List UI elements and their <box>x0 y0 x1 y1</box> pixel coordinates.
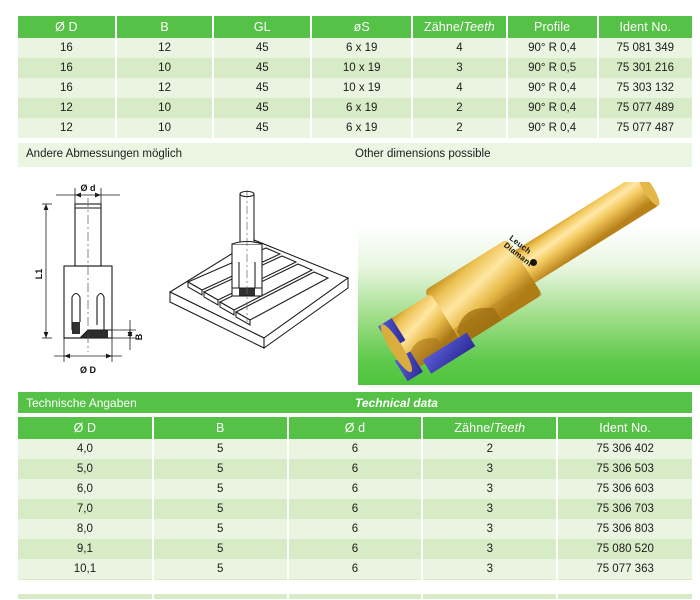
col-header-b: B <box>116 16 214 38</box>
line-drawing-svg: Ø d L1 Ø D B <box>18 182 358 387</box>
cell-ident-no: 75 301 216 <box>598 58 692 78</box>
cell-ident-no: 75 306 703 <box>557 499 692 519</box>
cell-shank-diameter: 6 <box>288 519 423 539</box>
dimension-table-container: Ø D B GL øS Zähne/Teeth Profile Ident No… <box>18 16 692 138</box>
cell-b: 5 <box>153 459 288 479</box>
cell-outer-diameter: 16 <box>18 58 116 78</box>
col-header-outer-diameter: Ø D <box>18 417 153 439</box>
col-header-teeth-en: Teeth <box>494 421 525 435</box>
cell-teeth: 3 <box>422 499 557 519</box>
cell-ident-no: 75 077 489 <box>598 98 692 118</box>
note-text-en: Other dimensions possible <box>355 148 491 160</box>
technical-data-table: Ø D B Ø d Zähne/Teeth Ident No. 4,0 5 6 … <box>18 417 692 599</box>
cell-teeth: 2 <box>412 118 506 138</box>
cell-shank-diameter: 6 <box>288 539 423 559</box>
cell-profile: 90° R 0,4 <box>507 118 598 138</box>
table-row: 10,1 5 6 3 75 077 363 <box>18 559 692 579</box>
line-drawing-panel: Ø d L1 Ø D B <box>18 182 358 387</box>
cell-b: 5 <box>153 439 288 459</box>
table-row: 9,1 5 6 3 75 080 520 <box>18 539 692 559</box>
col-header-teeth: Zähne/Teeth <box>422 417 557 439</box>
cell-teeth: 3 <box>422 479 557 499</box>
cell-b: 5 <box>153 539 288 559</box>
cell-shank-diameter: 10 x 19 <box>311 58 412 78</box>
brand-logo-dot-icon <box>530 259 537 266</box>
cell-outer-diameter: 12 <box>18 118 116 138</box>
table-row: 12 10 45 6 x 19 2 90° R 0,4 75 077 489 <box>18 98 692 118</box>
col-header-teeth: Zähne/Teeth <box>412 16 506 38</box>
cell-ident-no: 75 306 402 <box>557 439 692 459</box>
cell-ident-no: 75 077 487 <box>598 118 692 138</box>
table-row: 16 12 45 10 x 19 4 90° R 0,4 75 303 132 <box>18 78 692 98</box>
note-text-de: Andere Abmessungen möglich <box>26 148 182 160</box>
technical-data-table-container: Ø D B Ø d Zähne/Teeth Ident No. 4,0 5 6 … <box>18 417 692 599</box>
cell-teeth: 3 <box>422 459 557 479</box>
cell-b: 10 <box>116 58 214 78</box>
technical-data-heading-en: Technical data <box>355 396 438 410</box>
cell-gl: 45 <box>213 38 311 58</box>
cell-profile: 90° R 0,5 <box>507 58 598 78</box>
cell-gl: 45 <box>213 98 311 118</box>
col-header-profile: Profile <box>507 16 598 38</box>
cell-profile: 90° R 0,4 <box>507 98 598 118</box>
cell-teeth: 3 <box>422 519 557 539</box>
technical-data-heading-de: Technische Angaben <box>26 396 137 410</box>
cell-ident-no: 75 080 520 <box>557 539 692 559</box>
dimension-table-note: Andere Abmessungen möglich Other dimensi… <box>18 143 692 167</box>
cell-outer-diameter: 16 <box>18 78 116 98</box>
dimension-label-b: B <box>134 333 144 340</box>
cell-b: 12 <box>116 38 214 58</box>
cell-ident-no: 75 081 349 <box>598 38 692 58</box>
cell-gl: 45 <box>213 58 311 78</box>
cell-shank-diameter: 6 x 19 <box>311 38 412 58</box>
cell-gl: 45 <box>213 78 311 98</box>
cell-ident-no: 75 306 503 <box>557 459 692 479</box>
col-header-ident-no: Ident No. <box>557 417 692 439</box>
cell-b: 5 <box>153 499 288 519</box>
col-header-teeth-de: Zähne <box>424 20 460 34</box>
dimension-label-shank-diameter: Ø d <box>81 183 96 193</box>
cell-ident-no: 75 077 363 <box>557 559 692 579</box>
cell-outer-diameter: 4,0 <box>18 439 153 459</box>
cell-ident-no: 75 303 132 <box>598 78 692 98</box>
cell-shank-diameter: 6 <box>288 499 423 519</box>
bottom-margin-strip <box>18 580 692 594</box>
cell-profile: 90° R 0,4 <box>507 78 598 98</box>
cell-b: 10 <box>116 98 214 118</box>
cell-shank-diameter: 6 x 19 <box>311 118 412 138</box>
col-header-outer-diameter: Ø D <box>18 16 116 38</box>
dimension-label-outer-diameter: Ø D <box>80 365 97 375</box>
cell-ident-no: 75 306 803 <box>557 519 692 539</box>
col-header-gl: GL <box>213 16 311 38</box>
product-render-svg <box>358 182 700 385</box>
cell-teeth: 2 <box>422 439 557 459</box>
cell-teeth: 3 <box>412 58 506 78</box>
col-header-ident-no: Ident No. <box>598 16 692 38</box>
product-render-panel: Leuch Diamant <box>358 182 700 385</box>
cell-b: 5 <box>153 559 288 579</box>
table-row: 16 10 45 10 x 19 3 90° R 0,5 75 301 216 <box>18 58 692 78</box>
cell-outer-diameter: 9,1 <box>18 539 153 559</box>
cell-outer-diameter: 8,0 <box>18 519 153 539</box>
table-header-row: Ø D B Ø d Zähne/Teeth Ident No. <box>18 417 692 439</box>
cell-b: 5 <box>153 519 288 539</box>
col-header-b: B <box>153 417 288 439</box>
cell-teeth: 3 <box>422 559 557 579</box>
cell-shank-diameter: 6 <box>288 439 423 459</box>
table-row: 6,0 5 6 3 75 306 603 <box>18 479 692 499</box>
cell-profile: 90° R 0,4 <box>507 38 598 58</box>
col-header-teeth-de: Zähne <box>454 421 490 435</box>
cell-outer-diameter: 16 <box>18 38 116 58</box>
col-header-teeth-en: Teeth <box>464 20 495 34</box>
cell-b: 5 <box>153 479 288 499</box>
tool-shank <box>511 182 658 285</box>
cell-shank-diameter: 6 <box>288 479 423 499</box>
table-row: 8,0 5 6 3 75 306 803 <box>18 519 692 539</box>
cell-b: 10 <box>116 118 214 138</box>
cell-outer-diameter: 7,0 <box>18 499 153 519</box>
cell-shank-diameter: 10 x 19 <box>311 78 412 98</box>
col-header-shank-diameter: øS <box>311 16 412 38</box>
table-header-row: Ø D B GL øS Zähne/Teeth Profile Ident No… <box>18 16 692 38</box>
cell-teeth: 3 <box>422 539 557 559</box>
figure-band: Ø d L1 Ø D B <box>0 182 700 387</box>
cell-shank-diameter: 6 <box>288 559 423 579</box>
dimension-table: Ø D B GL øS Zähne/Teeth Profile Ident No… <box>18 16 692 138</box>
cell-teeth: 4 <box>412 38 506 58</box>
table-row: 5,0 5 6 3 75 306 503 <box>18 459 692 479</box>
cell-gl: 45 <box>213 118 311 138</box>
cell-outer-diameter: 5,0 <box>18 459 153 479</box>
cell-teeth: 2 <box>412 98 506 118</box>
cell-outer-diameter: 10,1 <box>18 559 153 579</box>
cell-shank-diameter: 6 x 19 <box>311 98 412 118</box>
cell-shank-diameter: 6 <box>288 459 423 479</box>
cell-outer-diameter: 6,0 <box>18 479 153 499</box>
technical-data-heading: Technische Angaben Technical data <box>18 392 692 413</box>
cell-ident-no: 75 306 603 <box>557 479 692 499</box>
cell-outer-diameter: 12 <box>18 98 116 118</box>
technical-data-table-body: 4,0 5 6 2 75 306 402 5,0 5 6 3 75 306 50… <box>18 439 692 599</box>
dimension-label-l1: L1 <box>34 269 44 280</box>
table-row: 12 10 45 6 x 19 2 90° R 0,4 75 077 487 <box>18 118 692 138</box>
table-row: 7,0 5 6 3 75 306 703 <box>18 499 692 519</box>
col-header-shank-diameter: Ø d <box>288 417 423 439</box>
dimension-table-body: 16 12 45 6 x 19 4 90° R 0,4 75 081 349 1… <box>18 38 692 138</box>
table-row: 16 12 45 6 x 19 4 90° R 0,4 75 081 349 <box>18 38 692 58</box>
table-row: 4,0 5 6 2 75 306 402 <box>18 439 692 459</box>
cell-teeth: 4 <box>412 78 506 98</box>
cell-b: 12 <box>116 78 214 98</box>
